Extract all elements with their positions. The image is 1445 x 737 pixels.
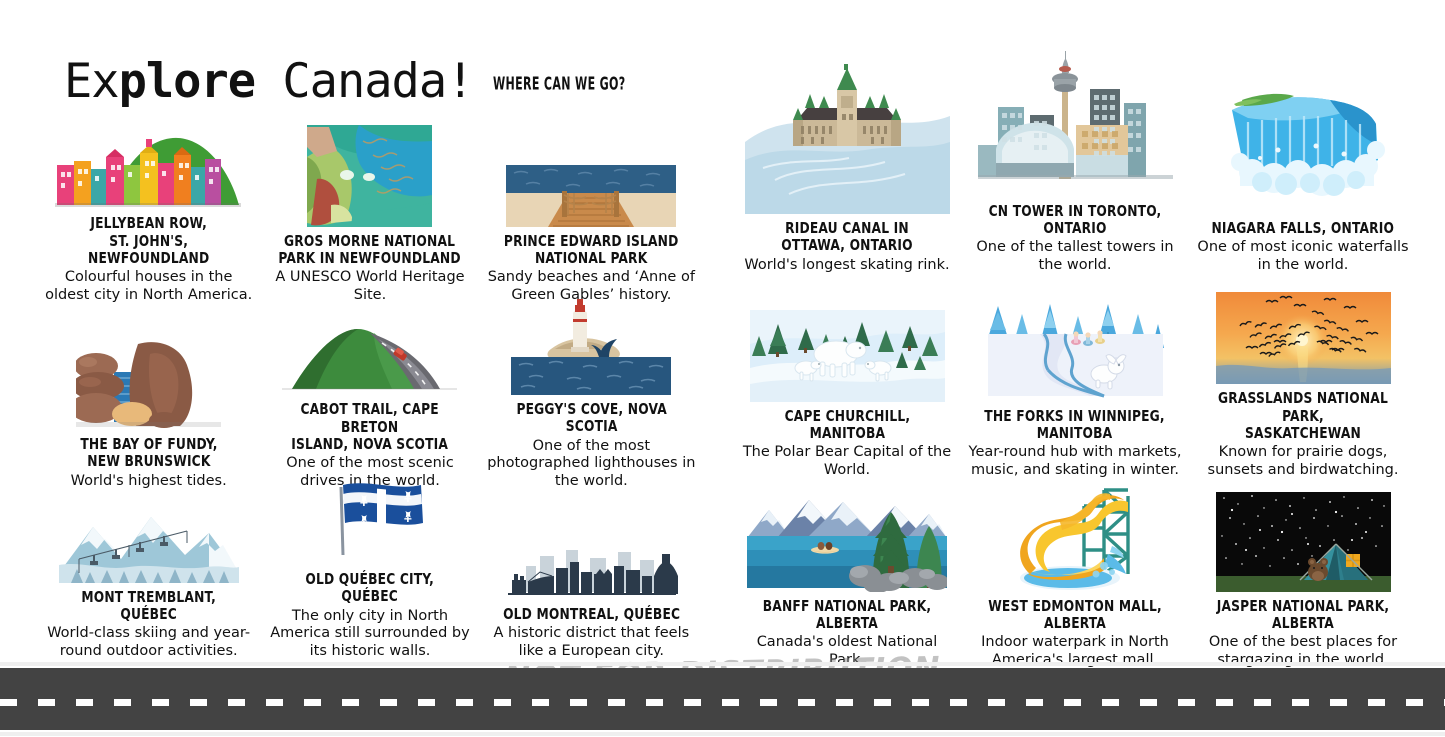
niagara-falls-art [1195, 84, 1411, 214]
destination-card-rideau-canal[interactable]: RIDEAU CANAL IN OTTAWA, ONTARIO World's … [735, 42, 959, 274]
cabot-trail-art [265, 315, 474, 395]
cn-tower-art [967, 37, 1183, 197]
fjord-landscape-illustration [307, 117, 432, 227]
destination-caption: BANFF NATIONAL PARK, ALBERTA [752, 598, 942, 633]
colourful-row-houses-illustration [49, 117, 249, 209]
gros-morne-art [265, 117, 474, 227]
poster-header: Explore Canada! WHERE CAN WE GO? [64, 58, 655, 105]
destination-card-jellybean-row[interactable]: JELLYBEAN ROW, ST. JOHN'S, NEWFOUNDLAND … [40, 118, 257, 304]
destination-description: World's longest skating rink. [744, 257, 949, 274]
montreal-skyline-illustration [504, 544, 679, 600]
destination-card-peggys-cove[interactable]: PEGGY'S COVE, NOVA SCOTIA One of the mos… [483, 304, 700, 490]
destination-caption: JASPER NATIONAL PARK, ALBERTA [1208, 598, 1398, 633]
old-quebec-city-art [265, 477, 474, 565]
destination-description: World's highest tides. [71, 473, 227, 490]
destination-card-cape-churchill[interactable]: CAPE CHURCHILL, MANITOBA The Polar Bear … [735, 274, 959, 479]
page-title: Explore Canada! [64, 58, 473, 105]
mont-tremblant-art [44, 511, 253, 583]
destination-caption: CAPE CHURCHILL, MANITOBA [784, 408, 910, 443]
destination-card-grasslands[interactable]: GRASSLANDS NATIONAL PARK, SASKATCHEWAN K… [1191, 274, 1415, 479]
destination-card-the-forks-winnipeg[interactable]: THE FORKS IN WINNIPEG, MANITOBA Year-rou… [963, 274, 1187, 479]
cape-churchill-art [739, 310, 955, 402]
destination-caption: PEGGY'S COVE, NOVA SCOTIA [499, 401, 683, 436]
banff-art [739, 492, 955, 592]
polar-bears-snow-illustration [750, 310, 945, 402]
tidal-rocks-illustration [76, 338, 221, 430]
destination-caption: RIDEAU CANAL IN OTTAWA, ONTARIO [752, 220, 942, 255]
the-forks-art [967, 302, 1183, 402]
road-dashed-line [0, 699, 1445, 706]
cn-tower-skyline-illustration [978, 37, 1173, 197]
peggys-cove-art [487, 295, 696, 395]
destination-caption: GROS MORNE NATIONAL PARK IN NEWFOUNDLAND [279, 233, 461, 268]
jellybean-row-art [44, 117, 253, 209]
old-montreal-art [487, 544, 696, 600]
destination-card-old-quebec-city[interactable]: OLD QUÉBEC CITY, QUÉBEC The only city in… [261, 490, 478, 660]
destination-card-banff[interactable]: BANFF NATIONAL PARK, ALBERTA Canada's ol… [735, 479, 959, 669]
destination-description: One of the tallest towers in the world. [968, 239, 1183, 274]
mountain-road-with-car-illustration [282, 315, 457, 395]
destination-description: World-class skiing and year-round outdoo… [44, 625, 253, 660]
destination-description: The only city in North America still sur… [265, 608, 474, 660]
destination-caption: OLD QUÉBEC CITY, QUÉBEC [278, 571, 462, 606]
destination-card-cn-tower[interactable]: CN TOWER IN TORONTO, ONTARIO One of the … [963, 42, 1187, 274]
destination-caption: CN TOWER IN TORONTO, ONTARIO [980, 203, 1170, 238]
destination-card-mont-tremblant[interactable]: MONT TREMBLANT, QUÉBEC World-class skiin… [40, 490, 257, 660]
title-segment-3: Canada! [255, 54, 473, 109]
sunset-birds-illustration [1216, 292, 1391, 384]
frozen-river-skating-trail-illustration [980, 302, 1170, 402]
page-subtitle: WHERE CAN WE GO? [493, 73, 626, 105]
destination-caption: THE BAY OF FUNDY, NEW BRUNSWICK [80, 436, 217, 471]
rideau-canal-art [739, 64, 955, 214]
quebec-flag-illustration [305, 477, 435, 565]
destinations-grid-east: JELLYBEAN ROW, ST. JOHN'S, NEWFOUNDLAND … [40, 118, 700, 660]
road-surface [0, 668, 1445, 730]
poster-page: Explore Canada! WHERE CAN WE GO? [0, 0, 1445, 737]
grasslands-art [1195, 292, 1411, 384]
destination-caption: GRASSLANDS NATIONAL PARK, SASKATCHEWAN [1208, 390, 1398, 442]
snowy-mountain-ski-lift-illustration [59, 511, 239, 583]
destination-description: The Polar Bear Capital of the World. [740, 444, 955, 479]
mountain-lake-canoe-illustration [747, 492, 947, 592]
destination-card-west-edmonton-mall[interactable]: WEST EDMONTON MALL, ALBERTA Indoor water… [963, 479, 1187, 669]
destination-description: Known for prairie dogs, sunsets and bird… [1196, 444, 1411, 479]
destination-description: Year-round hub with markets, music, and … [968, 444, 1183, 479]
jasper-art [1195, 492, 1411, 592]
destination-caption: JELLYBEAN ROW, ST. JOHN'S, NEWFOUNDLAND [57, 215, 241, 267]
destination-caption: OLD MONTREAL, QUÉBEC [503, 606, 680, 623]
destination-description: A historic district that feels like a Eu… [487, 625, 696, 660]
lighthouse-and-whale-illustration [511, 295, 671, 395]
destination-card-old-montreal[interactable]: OLD MONTREAL, QUÉBEC A historic district… [483, 490, 700, 660]
bay-of-fundy-art [44, 338, 253, 430]
destination-description: Colourful houses in the oldest city in N… [44, 269, 253, 304]
destination-description: A UNESCO World Heritage Site. [265, 269, 474, 304]
road-top-edge [0, 662, 1445, 666]
starry-night-tent-illustration [1216, 492, 1391, 592]
destination-card-cabot-trail[interactable]: CABOT TRAIL, CAPE BRETON ISLAND, NOVA SC… [261, 304, 478, 490]
pei-art [487, 165, 696, 227]
destination-caption: NIAGARA FALLS, ONTARIO [1212, 220, 1395, 237]
destination-caption: PRINCE EDWARD ISLAND NATIONAL PARK [504, 233, 679, 268]
destination-caption: WEST EDMONTON MALL, ALBERTA [980, 598, 1170, 633]
road-footer-graphic [0, 662, 1445, 737]
west-edmonton-mall-art [967, 482, 1183, 592]
destination-card-prince-edward-island[interactable]: PRINCE EDWARD ISLAND NATIONAL PARK Sandy… [483, 118, 700, 304]
destination-caption: THE FORKS IN WINNIPEG, MANITOBA [985, 408, 1165, 443]
destination-card-gros-morne[interactable]: GROS MORNE NATIONAL PARK IN NEWFOUNDLAND… [261, 118, 478, 304]
title-segment-2: plore [119, 54, 255, 109]
beach-boardwalk-illustration [506, 165, 676, 227]
waterfall-illustration [1218, 84, 1388, 214]
destination-caption: MONT TREMBLANT, QUÉBEC [57, 589, 241, 624]
destination-description: One of the most photographed lighthouses… [487, 438, 696, 490]
destination-caption: CABOT TRAIL, CAPE BRETON ISLAND, NOVA SC… [278, 401, 462, 453]
destination-card-bay-of-fundy[interactable]: THE BAY OF FUNDY, NEW BRUNSWICK World's … [40, 304, 257, 490]
waterslide-illustration [1000, 482, 1150, 592]
destination-card-jasper[interactable]: JASPER NATIONAL PARK, ALBERTA One of the… [1191, 479, 1415, 669]
destinations-grid-west: RIDEAU CANAL IN OTTAWA, ONTARIO World's … [735, 42, 1415, 669]
parliament-hill-frozen-canal-illustration [745, 64, 950, 214]
destination-card-niagara-falls[interactable]: NIAGARA FALLS, ONTARIO One of most iconi… [1191, 42, 1415, 274]
road-bottom-edge [0, 732, 1445, 736]
title-segment-1: Ex [64, 54, 119, 109]
destination-description: One of most iconic waterfalls in the wor… [1196, 239, 1411, 274]
